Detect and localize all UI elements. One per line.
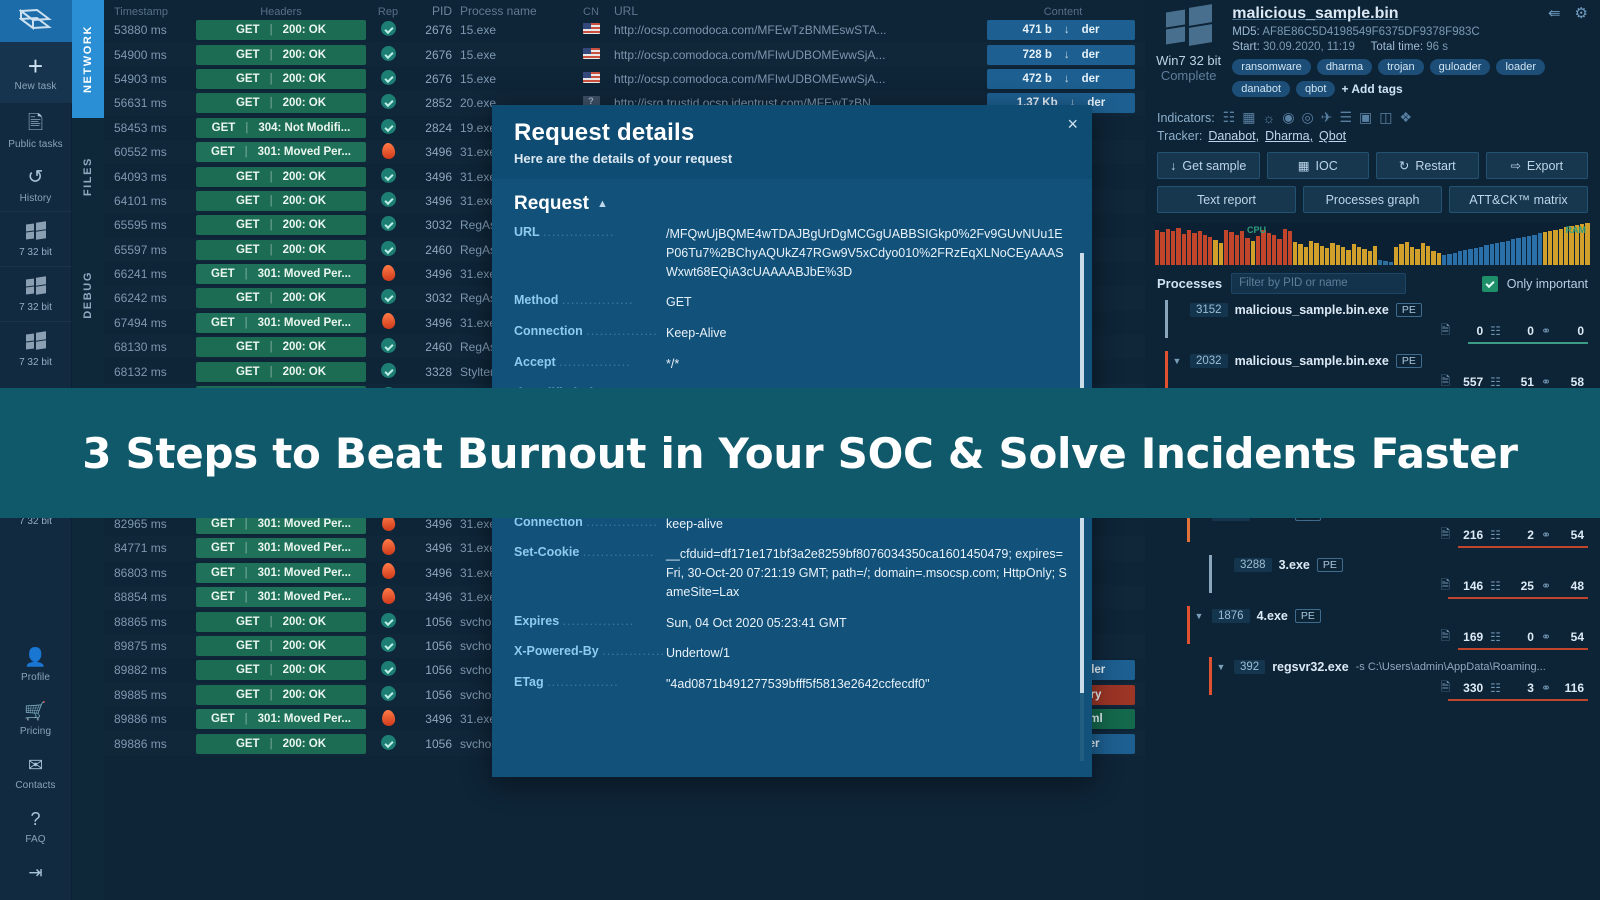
ram-bar [1458,251,1462,265]
ram-bar [1516,238,1520,265]
http-method: GET [236,244,260,256]
cell-content: 472 b↓der [987,69,1139,89]
cart-icon: 🛒 [0,699,72,723]
button-label: Restart [1415,159,1455,173]
sidebar-os-item[interactable]: 7 32 bit [0,211,72,266]
table-row[interactable]: 54903 msGET|200: OK267615.exehttp://ocsp… [104,67,1145,91]
total-time-label: Total time: [1371,41,1423,53]
ram-bar [1506,241,1510,265]
logout-icon: ⇥ [0,861,72,885]
reputation-ok-icon [381,168,396,183]
cell-pid: 3496 [410,541,460,555]
chevron-down-icon[interactable]: ▼ [1171,356,1183,366]
sample-tag[interactable]: trojan [1378,59,1424,75]
status-badge: GET|301: Moved Per... [196,587,366,607]
network-icon: ⚭ [1541,630,1551,644]
process-name: 3.exe [1279,558,1310,572]
file-icon: 🗎 [1441,525,1451,546]
cell-pid: 2824 [410,121,460,135]
cpu-bar [1224,230,1228,265]
logo-icon [19,8,53,34]
cpu-bar [1182,234,1186,265]
detail-value: /MFQwUjBQME4wTDAJBgUrDgMCGgUABBSIGkp0%2F… [666,225,1070,281]
envelope-icon: ✉ [0,753,72,777]
tracker-link[interactable]: Dharma, [1265,129,1313,143]
status-badge: GET|200: OK [196,20,366,40]
promo-banner: 3 Steps to Beat Burnout in Your SOC & So… [0,388,1600,518]
http-status: 301: Moved Per... [258,317,351,329]
status-badge: GET|301: Moved Per... [196,709,366,729]
status-badge: GET|301: Moved Per... [196,313,366,333]
sidebar-item-label: Profile [0,672,72,683]
cpu-bar [1373,246,1377,265]
cpu-bar [1341,247,1345,265]
archive-indicator-icon[interactable]: ◫ [1379,109,1392,126]
cell-rep [366,119,410,137]
sample-tag[interactable]: guloader [1430,59,1491,75]
cell-pid: 1056 [410,615,460,629]
text-report-button[interactable]: Text report [1157,186,1296,213]
only-important-label: Only important [1507,277,1588,291]
cell-headers: GET|200: OK [196,337,366,357]
status-badge: GET|200: OK [196,685,366,705]
reputation-malicious-icon [381,709,396,726]
processes-header: Processes Filter by PID or name Only imp… [1145,267,1600,300]
http-status: 301: Moved Per... [258,146,351,158]
cpu-bar [1293,242,1297,265]
http-method: GET [211,542,235,554]
http-method: GET [236,195,260,207]
status-badge: GET|301: Moved Per... [196,563,366,583]
only-important-checkbox[interactable] [1482,276,1498,292]
cell-pid: 3496 [410,517,460,531]
cell-rep [366,289,410,307]
status-badge: GET|304: Not Modifi... [196,118,366,138]
tab-label: NETWORK [82,25,94,93]
reputation-ok-icon [381,363,396,378]
att-ck-matrix-button[interactable]: ATT&CK™ matrix [1449,186,1588,213]
http-status: 301: Moved Per... [258,518,351,530]
cell-timestamp: 58453 ms [110,121,196,135]
cell-url[interactable]: http://ocsp.comodoca.com/MFEwTzBNMEswSTA… [614,23,987,37]
cell-rep [366,338,410,356]
button-label: Export [1527,159,1563,173]
chevron-down-icon[interactable]: ▼ [1215,662,1227,672]
registry-icon: ☷ [1490,375,1501,389]
cell-rep [366,143,410,162]
share-icon[interactable]: ⇚ [1548,4,1561,22]
cpu-bar [1421,243,1425,265]
content-size: 728 b [1022,49,1051,61]
ram-bar [1474,248,1478,265]
sample-tag[interactable]: loader [1496,59,1545,75]
indicators-row: Indicators: ☷▦☼◉◎✈☰▣◫❖ [1145,103,1600,126]
cell-headers: GET|200: OK [196,93,366,113]
col-url: URL [614,4,987,18]
status-badge: GET|301: Moved Per... [196,264,366,284]
cell-country [568,23,614,37]
process-name: 4.exe [1257,609,1288,623]
http-method: GET [211,591,235,603]
cell-headers: GET|301: Moved Per... [196,709,366,729]
cell-timestamp: 65595 ms [110,218,196,232]
file-icon: 🗎 [1441,627,1451,648]
cpu-bar [1235,235,1239,265]
total-time-value: 96 s [1426,41,1448,53]
content-pill[interactable]: 471 b↓der [987,20,1135,40]
table-row[interactable]: 53880 msGET|200: OK267615.exehttp://ocsp… [104,18,1145,42]
sidebar-item-label: History [0,193,72,204]
sample-meta: malicious_sample.bin MD5: AF8E86C5D41985… [1232,4,1590,97]
sidebar-item-faq[interactable]: ? FAQ [0,798,72,852]
cell-pid: 3496 [410,566,460,580]
detail-key: ETag ................ [514,675,666,689]
network-count: 116 [1558,681,1584,695]
cell-headers: GET|200: OK [196,685,366,705]
add-tags-button[interactable]: + Add tags [1341,82,1402,96]
mask-indicator-icon[interactable]: ☼ [1262,110,1275,126]
sidebar-os-item[interactable]: 7 32 bit [0,321,72,376]
sidebar-item-label: New task [0,81,72,92]
cpu-bar [1261,230,1265,265]
cell-pid: 2676 [410,48,460,62]
sidebar-os-label: 7 32 bit [0,247,72,258]
status-badge: GET|200: OK [196,636,366,656]
ram-bar [1527,236,1531,265]
cell-pid: 2460 [410,243,460,257]
reputation-malicious-icon [381,142,396,159]
cell-headers: GET|200: OK [196,45,366,65]
http-status: 200: OK [283,738,326,750]
download-icon: ↓ [1170,159,1176,173]
ram-bar [1484,245,1488,265]
sidebar-item-public-tasks[interactable]: 🖹 Public tasks [0,103,72,157]
reputation-ok-icon [381,119,396,134]
start-label: Start: [1232,41,1259,53]
status-badge: GET|200: OK [196,167,366,187]
http-status: 200: OK [283,244,326,256]
detail-value: Undertow/1 [666,644,1070,663]
flag-us-icon [583,48,600,59]
debug-indicator-icon[interactable]: ◉ [1282,109,1294,126]
network-icon: ⚭ [1541,681,1551,695]
cell-headers: GET|301: Moved Per... [196,264,366,284]
reputation-ok-icon [381,192,396,207]
registry-icon: ☷ [1490,324,1501,338]
registry-icon: ☷ [1490,681,1501,695]
status-badge: GET|200: OK [196,288,366,308]
sample-tag[interactable]: dharma [1317,59,1372,75]
tracker-link[interactable]: Qbot [1319,129,1346,143]
ram-bar [1511,239,1515,265]
screenshot-indicator-icon[interactable]: ▣ [1359,109,1372,126]
tab-label: FILES [82,157,94,196]
tab-network[interactable]: NETWORK [72,0,104,118]
ram-bar [1463,250,1467,265]
md5-value: AF8E86C5D4198549F6375DF9378F983C [1262,26,1479,38]
cell-headers: GET|200: OK [196,191,366,211]
process-item[interactable]: ▼18764.exePE🗎169☷0⚭54 [1157,606,1588,650]
file-icon: 🗎 [1441,678,1451,699]
cell-headers: GET|301: Moved Per... [196,563,366,583]
registry-count: 2 [1508,528,1534,542]
col-pid: PID [410,4,460,18]
cpu-bar [1415,249,1419,265]
card-icon: ▦ [1298,158,1310,173]
inject-indicator-icon[interactable]: ◎ [1302,109,1314,126]
reputation-ok-icon [381,338,396,353]
reputation-malicious-icon [381,313,396,330]
download-icon: ↓ [1064,49,1070,61]
cell-rep [366,94,410,112]
content-pill[interactable]: 472 b↓der [987,69,1135,89]
sidebar-os-item[interactable]: 7 32 bit [0,266,72,321]
detail-value: */* [666,355,1070,374]
sidebar-item-pricing[interactable]: 🛒 Pricing [0,690,72,744]
process-activity-underline [1448,699,1588,701]
cpu-bar [1283,229,1287,265]
reputation-ok-icon [381,216,396,231]
files-count: 169 [1457,630,1483,644]
cell-timestamp: 88854 ms [110,590,196,604]
cell-url[interactable]: http://ocsp.comodoca.com/MFIwUDBOMEwwSjA… [614,72,987,86]
indicator-icons: ☷▦☼◉◎✈☰▣◫❖ [1223,109,1412,126]
col-headers: Headers [196,6,366,18]
cpu-bar [1410,247,1414,265]
registry-icon: ☷ [1490,579,1501,593]
sample-filename[interactable]: malicious_sample.bin [1232,5,1590,23]
ram-bar [1490,244,1494,265]
cell-pid: 3496 [410,194,460,208]
status-badge: GET|301: Moved Per... [196,142,366,162]
reputation-ok-icon [381,21,396,36]
sidebar-item-history[interactable]: ↺ History [0,157,72,211]
process-pid: 3288 [1234,558,1272,572]
cell-timestamp: 60552 ms [110,145,196,159]
process-name: malicious_sample.bin.exe [1235,303,1389,317]
http-status: 200: OK [283,292,326,304]
cell-timestamp: 54903 ms [110,72,196,86]
sample-tag[interactable]: danabot [1232,81,1290,97]
ram-bar [1500,242,1504,265]
network-icon: ⚭ [1541,324,1551,338]
process-activity-underline [1448,597,1588,599]
gear-icon[interactable]: ⚙ [1575,4,1588,22]
cpu-bar [1251,241,1255,265]
process-item[interactable]: ▼32883.exePE🗎146☷25⚭48 [1157,555,1588,599]
http-status: 304: Not Modifi... [258,122,350,134]
cell-rep [366,363,410,381]
reputation-ok-icon [381,94,396,109]
network-icon: ⚭ [1541,528,1551,542]
content-pill[interactable]: 728 b↓der [987,45,1135,65]
content-type: der [1082,73,1100,85]
sidebar-item-profile[interactable]: 👤 Profile [0,636,72,690]
cell-headers: GET|301: Moved Per... [196,313,366,333]
cpu-bar [1213,240,1217,265]
cell-rep [366,241,410,259]
http-method: GET [211,713,235,725]
cell-process: 15.exe [460,23,568,37]
network-count: 54 [1558,528,1584,542]
cell-rep [366,710,410,729]
cell-rep [366,539,410,558]
ram-bar [1479,247,1483,265]
process-severity-bar [1209,555,1212,593]
tracker-row: Tracker:Danabot,Dharma,Qbot [1145,126,1600,143]
cell-process: 15.exe [460,48,568,62]
app-root: Timestamp Headers Rep PID Process name C… [0,0,1600,900]
download-icon: ↓ [1064,24,1070,36]
registry-count: 3 [1508,681,1534,695]
modal-subtitle: Here are the details of your request [514,151,1070,166]
cell-timestamp: 84771 ms [110,541,196,555]
cpu-bar [1352,244,1356,265]
reputation-ok-icon [381,686,396,701]
detail-value: Keep-Alive [666,324,1070,343]
chevron-up-icon: ▲ [597,198,608,210]
cpu-bar [1389,262,1393,265]
cpu-bar [1272,235,1276,265]
process-severity-bar [1209,657,1212,695]
sample-timing: Start: 30.09.2020, 11:19 Total time: 96 … [1232,41,1590,53]
tracker-label: Tracker: [1157,129,1202,143]
http-method: GET [236,664,260,676]
process-type-badge: PE [1396,354,1422,368]
cpu-bar [1176,228,1180,265]
detail-field: URL ................/MFQwUjBQME4wTDAJBgU… [514,225,1070,281]
reputation-ok-icon [381,735,396,750]
network-icon: ⚭ [1541,579,1551,593]
section-request[interactable]: Request ▲ [514,193,1070,215]
cpu-bar [1187,230,1191,265]
download-icon: ↓ [1064,73,1070,85]
http-method: GET [236,341,260,353]
status-badge: GET|200: OK [196,215,366,235]
cpu-bar [1314,243,1318,265]
cpu-bar [1160,232,1164,265]
http-status: 200: OK [283,24,326,36]
cell-rep [366,563,410,582]
cell-timestamp: 65597 ms [110,243,196,257]
cpu-bar [1437,253,1441,265]
cpu-bar [1405,242,1409,265]
get-sample-button[interactable]: ↓Get sample [1157,152,1260,179]
detail-value: "4ad0871b491277539bfff5f5813e2642ccfecdf… [666,675,1070,694]
ioc-button[interactable]: ▦IOC [1267,152,1370,179]
registry-indicator-icon[interactable]: ▦ [1242,109,1255,126]
document-icon: 🖹 [0,112,72,136]
cell-headers: GET|200: OK [196,167,366,187]
ram-bar [1548,231,1552,265]
cell-timestamp: 89885 ms [110,688,196,702]
http-method: GET [211,317,235,329]
http-status: 200: OK [283,664,326,676]
status-badge: GET|200: OK [196,240,366,260]
restart-button[interactable]: ↻Restart [1376,152,1479,179]
network-count: 0 [1558,324,1584,338]
http-status: 301: Moved Per... [258,713,351,725]
sample-tag[interactable]: ransomware [1232,59,1311,75]
cell-rep [366,21,410,39]
detail-field: Accept ................*/* [514,355,1070,374]
http-status: 200: OK [283,219,326,231]
sample-tag[interactable]: qbot [1296,81,1335,97]
tracker-link[interactable]: Danabot, [1208,129,1259,143]
process-pid: 3152 [1190,303,1228,317]
chevron-down-icon[interactable]: ▼ [1193,611,1205,621]
cell-headers: GET|301: Moved Per... [196,538,366,558]
tab-debug[interactable]: DEBUG [72,236,104,354]
processes-graph-button[interactable]: Processes graph [1303,186,1442,213]
http-status: 200: OK [283,640,326,652]
cpu-bar [1362,249,1366,265]
http-method: GET [236,689,260,701]
cell-pid: 3496 [410,267,460,281]
close-icon[interactable]: × [1067,115,1078,133]
cpu-bar [1288,231,1292,265]
rocket-indicator-icon[interactable]: ✈ [1321,109,1333,126]
cell-pid: 1056 [410,639,460,653]
cell-timestamp: 89886 ms [110,737,196,751]
table-row[interactable]: 54900 msGET|200: OK267615.exehttp://ocsp… [104,42,1145,66]
cell-timestamp: 82965 ms [110,517,196,531]
script-indicator-icon[interactable]: ☰ [1339,109,1352,126]
col-timestamp: Timestamp [110,6,196,18]
cell-rep [366,265,410,284]
network-count: 58 [1558,375,1584,389]
cell-timestamp: 89886 ms [110,712,196,726]
cell-pid: 3496 [410,316,460,330]
status-badge: GET|200: OK [196,362,366,382]
process-filter-input[interactable]: Filter by PID or name [1231,273,1406,294]
cell-headers: GET|200: OK [196,660,366,680]
process-pid: 2032 [1190,354,1228,368]
app-logo[interactable] [0,0,72,42]
cell-pid: 1056 [410,688,460,702]
shield-indicator-icon[interactable]: ❖ [1400,109,1413,126]
cell-headers: GET|200: OK [196,69,366,89]
export-button[interactable]: ⇨Export [1486,152,1589,179]
ram-bar [1543,232,1547,265]
network-indicator-icon[interactable]: ☷ [1223,109,1236,126]
sidebar-item-logout[interactable]: ⇥ [0,852,72,900]
files-count: 216 [1457,528,1483,542]
http-status: 301: Moved Per... [258,591,351,603]
http-method: GET [236,49,260,61]
plus-icon: + [0,54,72,78]
sidebar-item-new-task[interactable]: + New task [0,42,72,103]
tab-files[interactable]: FILES [72,118,104,236]
http-status: 200: OK [283,97,326,109]
cell-timestamp: 89875 ms [110,639,196,653]
cell-url[interactable]: http://ocsp.comodoca.com/MFIwUDBOMEwwSjA… [614,48,987,62]
sidebar-item-contacts[interactable]: ✉ Contacts [0,744,72,798]
http-status: 200: OK [283,689,326,701]
content-type: der [1082,24,1100,36]
cell-rep [366,168,410,186]
process-pid: 392 [1234,660,1265,674]
cell-content: 728 b↓der [987,45,1139,65]
cell-timestamp: 53880 ms [110,23,196,37]
cell-rep [366,588,410,607]
process-item[interactable]: ▼392regsvr32.exe-s C:\Users\admin\AppDat… [1157,657,1588,701]
process-item[interactable]: ▼3152malicious_sample.bin.exePE🗎0☷0⚭0 [1157,300,1588,344]
cell-pid: 3032 [410,218,460,232]
http-status: 301: Moved Per... [258,567,351,579]
section-request-label: Request [514,193,589,215]
user-icon: 👤 [0,645,72,669]
